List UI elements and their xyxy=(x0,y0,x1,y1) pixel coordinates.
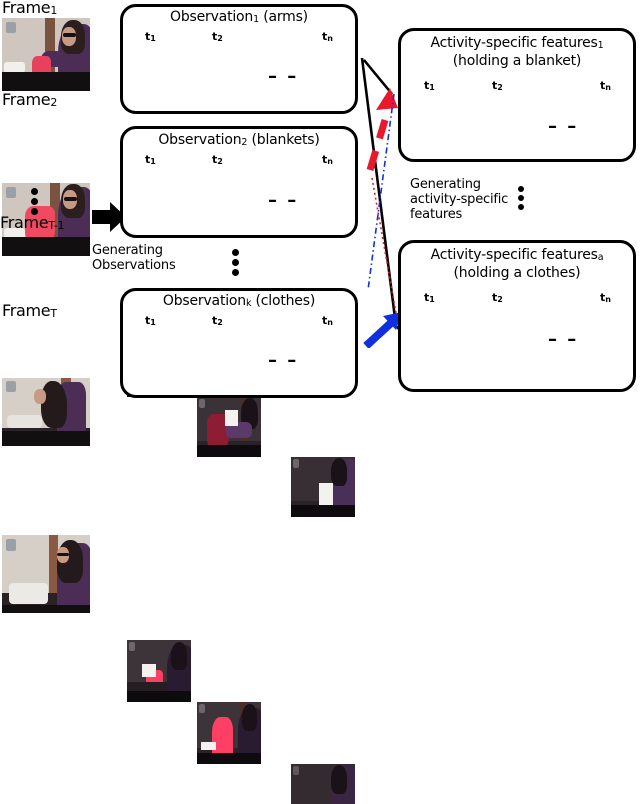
frame-t-label: FrameT xyxy=(2,303,57,321)
observation-2-thumb-tn xyxy=(291,764,355,804)
observation-2-title: Observation2 (blankets) xyxy=(120,133,358,149)
features-a-title: Activity-specific featuresa xyxy=(398,248,636,264)
features-1-dashes: – – xyxy=(548,118,578,136)
observations-ellipsis xyxy=(232,249,239,276)
generating-observations-caption: Generating Observations xyxy=(92,243,176,273)
features-1-t1-label: t1 xyxy=(424,80,435,92)
red-dotted-line-icon xyxy=(372,178,398,324)
generating-features-caption: Generating activity-specific features xyxy=(410,177,508,222)
features-1-tn-label: tn xyxy=(600,80,611,92)
frame-t-image xyxy=(2,535,90,613)
features-1-title: Activity-specific features1 xyxy=(398,36,636,52)
blue-arrow-up-icon xyxy=(366,312,402,346)
observation-2-thumb-t2 xyxy=(197,702,261,764)
features-a-subtitle: (holding a clothes) xyxy=(398,266,636,281)
features-1-t2-label: t2 xyxy=(492,80,503,92)
observation-2-t1-label: t1 xyxy=(145,154,156,166)
frame-1-image xyxy=(2,18,90,91)
features-ellipsis xyxy=(518,186,524,210)
frame-2-label: Frame2 xyxy=(2,92,57,110)
features-a-t2-label: t2 xyxy=(492,292,503,304)
observation-2-tn-label: tn xyxy=(322,154,333,166)
frame-1-label: Frame1 xyxy=(2,0,57,18)
observation-1-t1-label: t1 xyxy=(145,31,156,43)
observation-1-thumb-tn xyxy=(291,457,355,517)
frames-ellipsis xyxy=(31,188,38,215)
observation-k-title: Observationk (clothes) xyxy=(120,294,358,310)
observation-1-tn-label: tn xyxy=(322,31,333,43)
observation-k-tn-label: tn xyxy=(322,315,333,327)
observation-k-dashes: – – xyxy=(268,352,298,370)
observation-1-title: Observation1 (arms) xyxy=(120,10,358,26)
frame-t-minus-1-image xyxy=(2,378,90,446)
observation-1-t2-label: t2 xyxy=(212,31,223,43)
observation-1-thumb-t2 xyxy=(197,397,261,457)
observation-2-t2-label: t2 xyxy=(212,154,223,166)
observation-1-dashes: – – xyxy=(268,68,298,86)
features-a-dashes: – – xyxy=(548,331,578,349)
red-arrow-up-icon xyxy=(370,88,398,170)
observation-k-t2-label: t2 xyxy=(212,315,223,327)
features-1-subtitle: (holding a blanket) xyxy=(398,54,636,69)
features-a-t1-label: t1 xyxy=(424,292,435,304)
features-a-tn-label: tn xyxy=(600,292,611,304)
observation-2-thumb-t1 xyxy=(127,640,191,702)
observation-2-dashes: – – xyxy=(268,192,298,210)
frame-t-minus-1-label: FrameT-1 xyxy=(0,215,64,233)
observation-k-t1-label: t1 xyxy=(145,315,156,327)
